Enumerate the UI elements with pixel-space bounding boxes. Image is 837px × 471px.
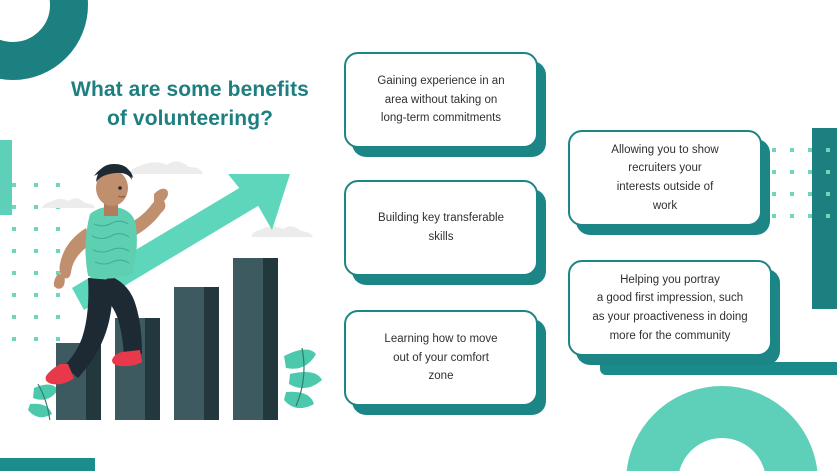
left-mint-bar-decoration (0, 140, 12, 215)
card-text-line: Gaining experience in an (377, 72, 504, 91)
card-text-line: zone (384, 367, 497, 386)
dot (772, 148, 776, 152)
card-body[interactable]: Gaining experience in an area without ta… (344, 52, 538, 148)
card-text-line: out of your comfort (384, 349, 497, 368)
dot (12, 271, 16, 275)
card-text-line: recruiters your (611, 159, 718, 178)
dot (12, 183, 16, 187)
dot (12, 205, 16, 209)
benefit-card-first-impression[interactable]: Helping you portray a good first impress… (568, 260, 772, 356)
top-left-arc-decoration (0, 0, 88, 80)
dot (826, 192, 830, 196)
card-text: Building key transferable skills (378, 209, 504, 246)
card-text-line: as your proactiveness in doing (592, 308, 747, 327)
card-text-line: Helping you portray (592, 271, 747, 290)
card-text-line: skills (378, 228, 504, 247)
bottom-left-teal-bar-decoration (0, 458, 95, 471)
page-title-line-1: What are some benefits (40, 76, 340, 105)
dot (808, 192, 812, 196)
page-title: What are some benefits of volunteering? (40, 76, 340, 134)
bottom-arch-decoration (626, 386, 818, 471)
dot (826, 148, 830, 152)
card-text-line: long-term commitments (377, 109, 504, 128)
dot (808, 148, 812, 152)
dot (790, 170, 794, 174)
dot (772, 192, 776, 196)
card-text: Learning how to move out of your comfort… (384, 330, 497, 386)
card-text-line: interests outside of (611, 178, 718, 197)
dot (12, 315, 16, 319)
dot (12, 293, 16, 297)
card-text: Allowing you to show recruiters your int… (611, 141, 718, 216)
dot (12, 249, 16, 253)
dot (12, 337, 16, 341)
card-text-line: more for the community (592, 327, 747, 346)
benefit-card-show-recruiters[interactable]: Allowing you to show recruiters your int… (568, 130, 762, 226)
card-text-line: Learning how to move (384, 330, 497, 349)
card-text-line: a good first impression, such (592, 289, 747, 308)
card-text-line: Building key transferable (378, 209, 504, 228)
card-text-line: Allowing you to show (611, 141, 718, 160)
dot (790, 192, 794, 196)
card-text-line: work (611, 197, 718, 216)
dot (826, 170, 830, 174)
benefit-card-transferable-skills[interactable]: Building key transferable skills (344, 180, 538, 276)
dot (808, 214, 812, 218)
dot (790, 214, 794, 218)
benefit-card-gaining-experience[interactable]: Gaining experience in an area without ta… (344, 52, 538, 148)
page-title-line-2: of volunteering? (40, 105, 340, 134)
person-climbing-bar-chart-illustration (28, 160, 328, 420)
dot (790, 148, 794, 152)
dot (826, 214, 830, 218)
slide-canvas: What are some benefits of volunteering? (0, 0, 837, 471)
dot (808, 170, 812, 174)
card-body[interactable]: Allowing you to show recruiters your int… (568, 130, 762, 226)
right-dot-grid-decoration (772, 148, 837, 236)
card-text: Helping you portray a good first impress… (592, 271, 747, 346)
card-text: Gaining experience in an area without ta… (377, 72, 504, 128)
card-body[interactable]: Building key transferable skills (344, 180, 538, 276)
card-body[interactable]: Helping you portray a good first impress… (568, 260, 772, 356)
dot (772, 170, 776, 174)
card-body[interactable]: Learning how to move out of your comfort… (344, 310, 538, 406)
dot (12, 227, 16, 231)
benefit-card-comfort-zone[interactable]: Learning how to move out of your comfort… (344, 310, 538, 406)
dot (772, 214, 776, 218)
card-text-line: area without taking on (377, 91, 504, 110)
